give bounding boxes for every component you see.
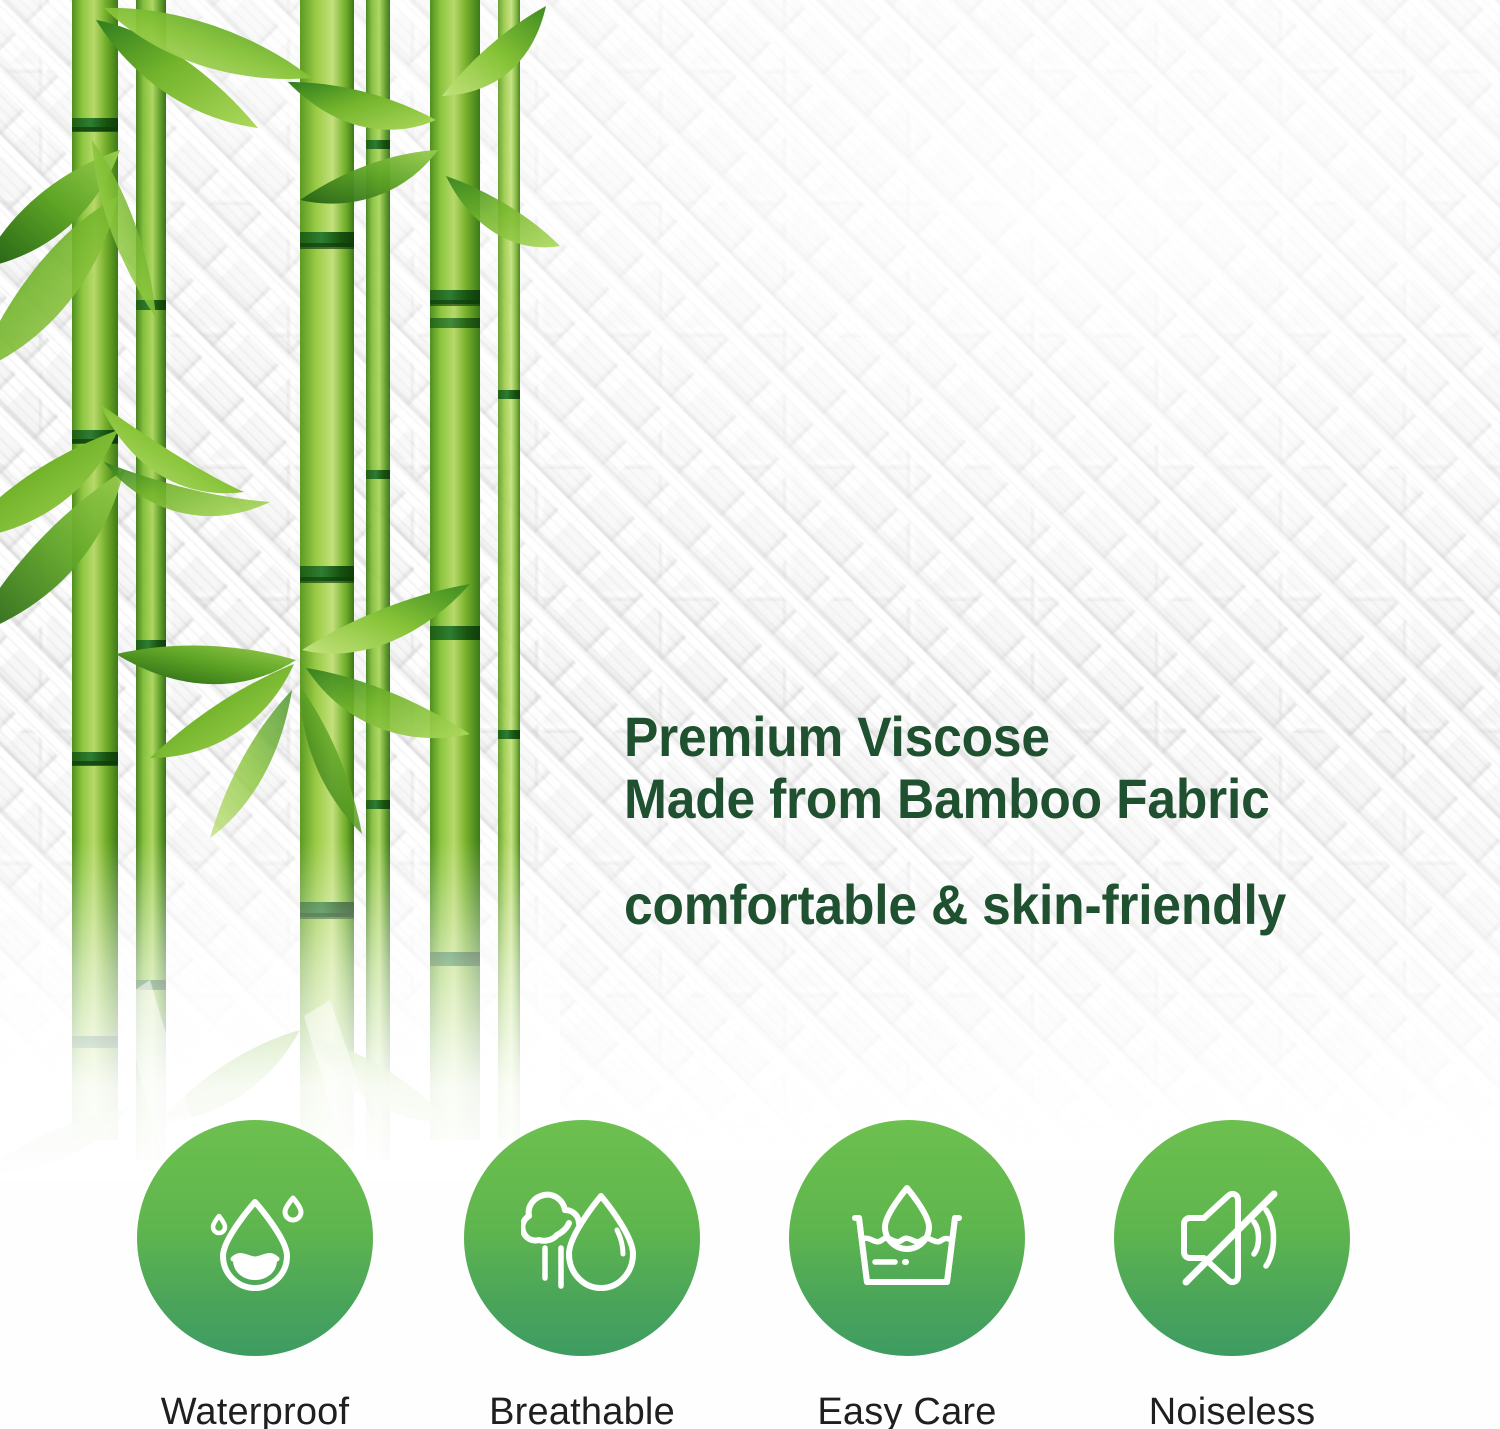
feature-label: Easy Care xyxy=(757,1392,1057,1429)
feature-label: Noiseless xyxy=(1082,1392,1382,1429)
speaker-muted-icon xyxy=(1170,1178,1294,1298)
feature-label: Breathable xyxy=(432,1392,732,1429)
feature-bubble xyxy=(789,1120,1025,1356)
feature-item-breathable: Breathable xyxy=(432,1120,732,1429)
feature-label: Waterproof xyxy=(105,1392,405,1429)
feature-icon-row: Waterproof Breathable xyxy=(0,1120,1500,1429)
feature-bubble xyxy=(137,1120,373,1356)
water-drop-icon xyxy=(195,1178,315,1298)
headline-line-1: Premium Viscose xyxy=(624,706,1360,768)
bamboo-stalks-illustration xyxy=(0,0,560,1180)
product-feature-banner: Premium Viscose Made from Bamboo Fabric … xyxy=(0,0,1500,1429)
feature-item-noiseless: Noiseless xyxy=(1082,1120,1382,1429)
feature-item-easy-care: Easy Care xyxy=(757,1120,1057,1429)
headline-line-2: Made from Bamboo Fabric xyxy=(624,768,1360,830)
cloud-rain-drop-icon xyxy=(521,1178,643,1298)
headline-block: Premium Viscose Made from Bamboo Fabric … xyxy=(624,706,1424,936)
feature-bubble xyxy=(1114,1120,1350,1356)
feature-item-waterproof: Waterproof xyxy=(105,1120,405,1429)
feature-bubble xyxy=(464,1120,700,1356)
wash-tub-icon xyxy=(845,1178,969,1298)
headline-line-3: comfortable & skin-friendly xyxy=(624,874,1360,936)
